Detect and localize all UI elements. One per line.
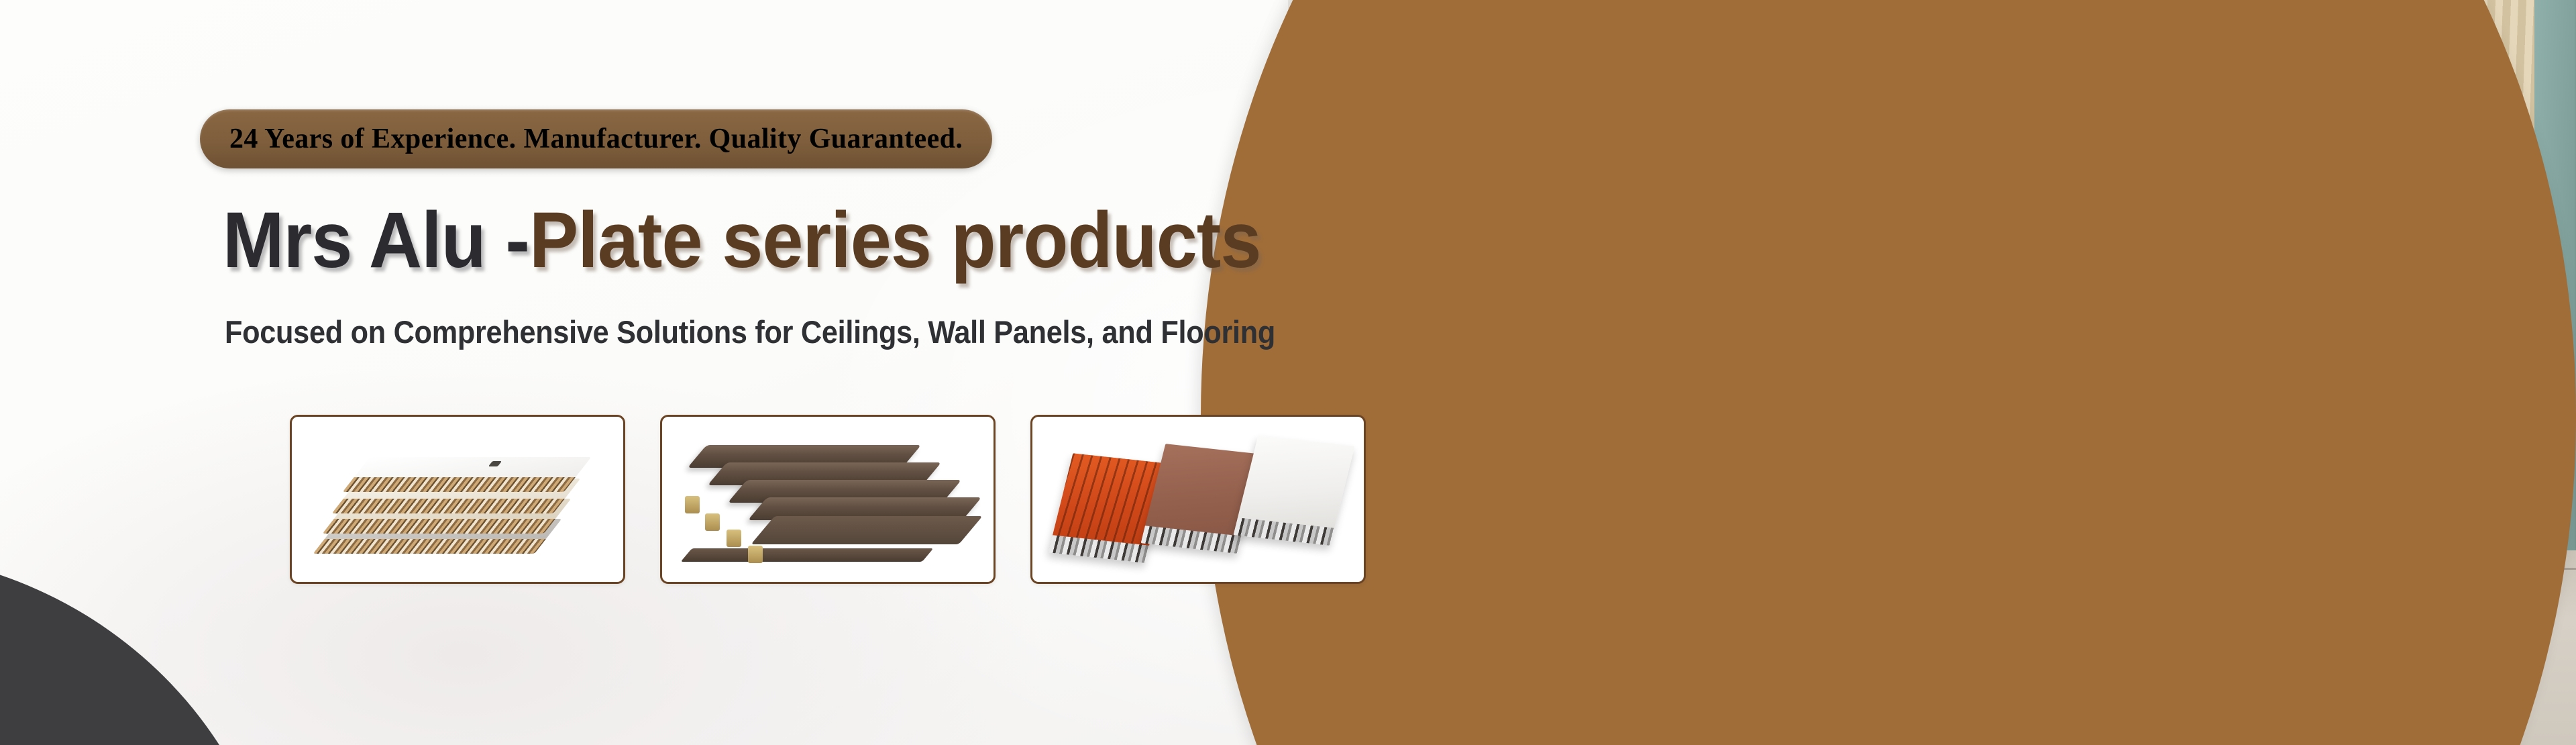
product-image-honeycomb-stack <box>292 417 623 582</box>
hero-content: 24 Years of Experience. Manufacturer. Qu… <box>0 0 1375 745</box>
product-image-fluted-panel <box>662 417 994 582</box>
experience-badge-label: 24 Years of Experience. Manufacturer. Qu… <box>229 123 963 155</box>
page-title-accent: Plate series products <box>529 196 1261 285</box>
page-subtitle: Focused on Comprehensive Solutions for C… <box>225 313 1275 350</box>
page-title: Mrs Alu -Plate series products <box>223 195 1261 286</box>
product-card-honeycomb-samples[interactable] <box>1030 415 1366 584</box>
sample-white <box>1233 436 1354 546</box>
product-image-honeycomb-samples <box>1032 417 1364 582</box>
product-card-honeycomb-stack[interactable] <box>290 415 625 584</box>
panel-backing <box>751 516 982 544</box>
product-card-fluted-panel[interactable] <box>660 415 996 584</box>
experience-badge: 24 Years of Experience. Manufacturer. Qu… <box>200 109 992 168</box>
product-card-list <box>290 415 1366 584</box>
hero-banner: 24 Years of Experience. Manufacturer. Qu… <box>0 0 2576 745</box>
page-title-primary: Mrs Alu - <box>223 196 529 285</box>
arc-photo-reveal <box>1335 0 2576 745</box>
